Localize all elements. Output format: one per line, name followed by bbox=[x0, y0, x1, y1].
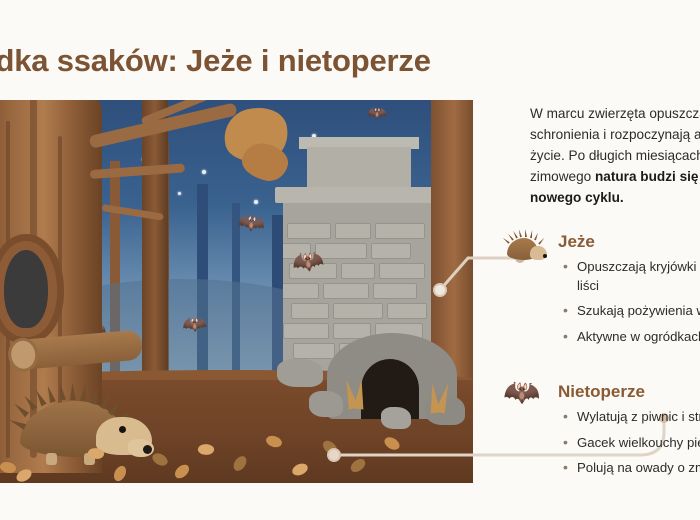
bat-icon: 🦇 bbox=[181, 314, 207, 336]
bullet-list-hedgehogs: Opuszczają kryjówki p liści Szukają poży… bbox=[563, 258, 700, 354]
intro-paragraph: W marcu zwierzęta opuszcza schronienia i… bbox=[530, 103, 700, 208]
star-icon bbox=[254, 200, 258, 204]
list-item: Wylatują z piwnic i stry bbox=[563, 408, 700, 427]
bullet-list-bats: Wylatują z piwnic i stry Gacek wielkouch… bbox=[563, 408, 700, 485]
page-title: budka ssaków: Jeże i nietoperze bbox=[0, 44, 598, 78]
group-heading-hedgehogs: Jeże bbox=[558, 232, 595, 252]
list-item: Szukają pożywienia wi bbox=[563, 302, 700, 321]
star-icon bbox=[178, 192, 181, 195]
bat-icon: 🦇 bbox=[237, 211, 267, 236]
rock bbox=[381, 407, 411, 429]
hedgehog-eye bbox=[119, 426, 126, 433]
tower-upper-block: 🦇 bbox=[307, 147, 411, 191]
bat-icon: 🦇 bbox=[290, 246, 326, 276]
rock bbox=[277, 359, 323, 387]
list-item: Polują na owady o zmi bbox=[563, 459, 700, 478]
list-item: Opuszczają kryjówki p liści bbox=[563, 258, 700, 295]
bat-icon: 🦇 bbox=[505, 378, 551, 418]
hedgehog-icon bbox=[505, 228, 551, 268]
group-heading-bats: Nietoperze bbox=[558, 382, 645, 402]
rock bbox=[309, 391, 343, 417]
list-item: Aktywne w ogródkach bbox=[563, 328, 700, 347]
bat-icon: 🦇 bbox=[367, 103, 387, 123]
hedgehog-nose bbox=[143, 445, 152, 454]
paper-hedgehog bbox=[20, 389, 152, 463]
star-icon bbox=[202, 170, 206, 174]
tree-hollow bbox=[4, 250, 48, 328]
illustration-panel: 🦇 🦇 🦇 bbox=[0, 100, 473, 483]
list-item: Gacek wielkouchy pier bbox=[563, 434, 700, 453]
